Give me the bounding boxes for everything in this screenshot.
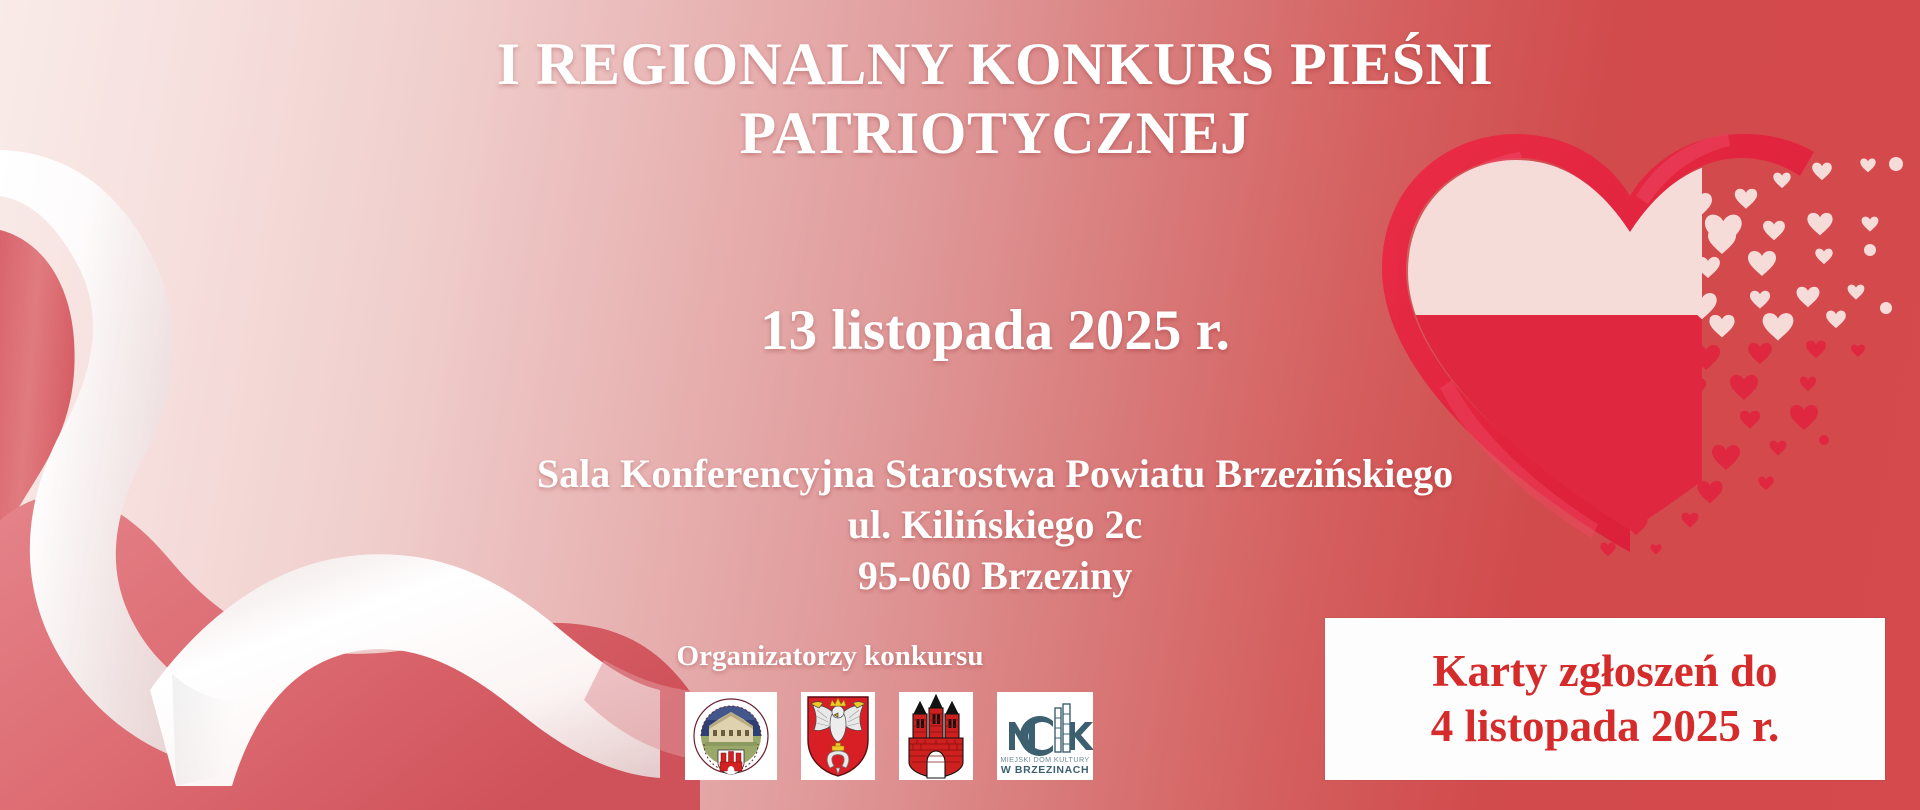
venue-line-1: Sala Konferencyjna Starostwa Powiatu Brz… xyxy=(330,448,1660,499)
heart-particles-white xyxy=(1684,157,1903,341)
powiat-brzezinski-coat-of-arms xyxy=(801,692,875,780)
mdk-logo-line1: MIEJSKI DOM KULTURY xyxy=(1000,755,1089,764)
music-school-logo xyxy=(685,692,777,780)
submission-deadline-box: Karty zgłoszeń do 4 listopada 2025 r. xyxy=(1325,618,1885,780)
mdk-logo-line2: W BRZEZINACH xyxy=(1001,764,1089,776)
venue-line-3: 95-060 Brzeziny xyxy=(330,550,1660,601)
organizers-label: Organizatorzy konkursu xyxy=(520,640,1140,673)
venue-line-2: ul. Kilińskiego 2c xyxy=(330,499,1660,550)
cta-line-1: Karty zgłoszeń do xyxy=(1433,644,1778,699)
cta-line-2: 4 listopada 2025 r. xyxy=(1431,699,1779,754)
event-date: 13 listopada 2025 r. xyxy=(430,300,1560,363)
organizer-logos: MIEJSKI DOM KULTURY W BRZEZINACH xyxy=(685,692,1093,780)
poster-title: I REGIONALNY KONKURS PIEŚNI PATRIOTYCZNE… xyxy=(330,30,1660,168)
poster-canvas: I REGIONALNY KONKURS PIEŚNI PATRIOTYCZNE… xyxy=(0,0,1920,810)
brzeziny-town-coat-of-arms xyxy=(899,692,973,780)
venue-address: Sala Konferencyjna Starostwa Powiatu Brz… xyxy=(330,448,1660,602)
mdk-brzeziny-logo: MIEJSKI DOM KULTURY W BRZEZINACH xyxy=(997,692,1093,780)
